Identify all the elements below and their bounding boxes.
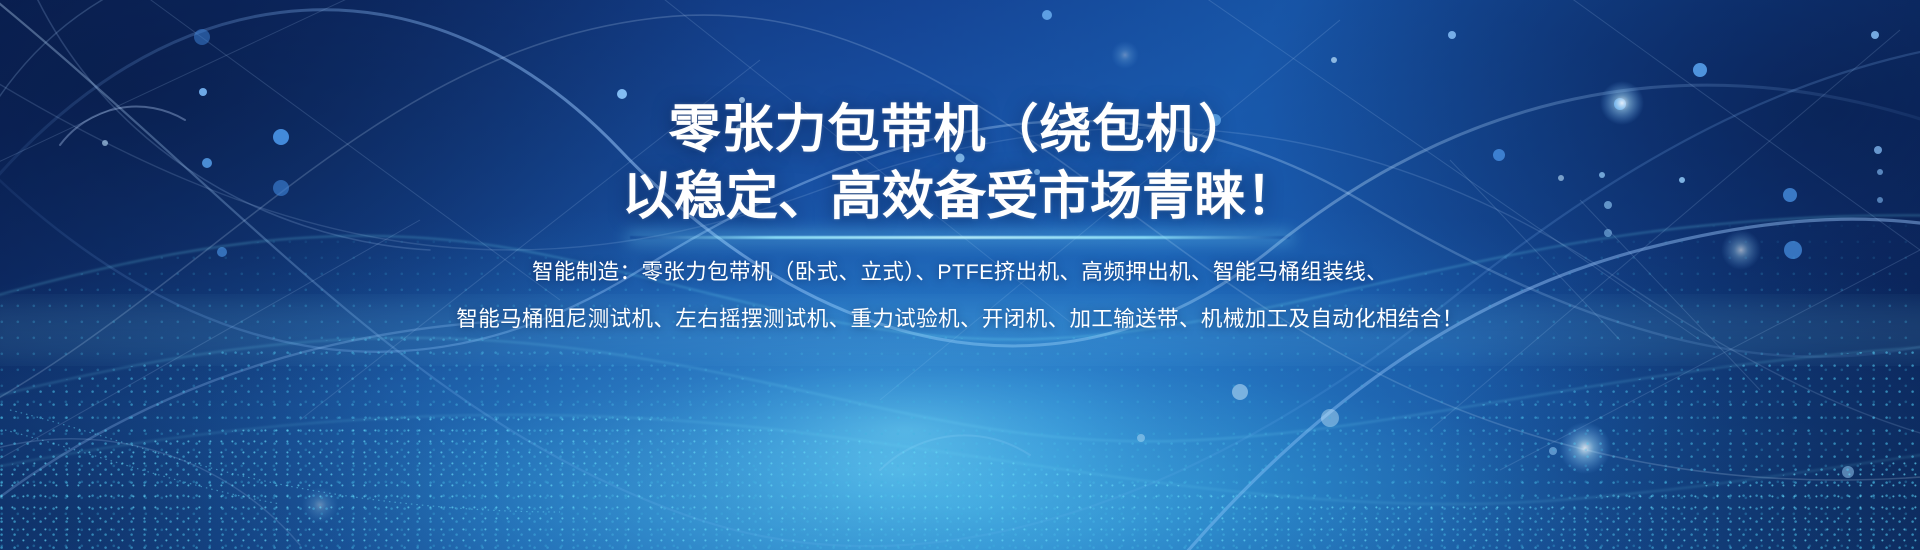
headline-glow-underline [630, 236, 1290, 239]
banner-headline-line1: 零张力包带机（绕包机） [668, 99, 1251, 162]
banner-headline-line2: 以稳定、高效备受市场青睐！ [622, 166, 1298, 229]
banner-subtitle-line1: 智能制造：零张力包带机（卧式、立式）、PTFE挤出机、高频押出机、智能马桶组装线… [532, 258, 1388, 287]
banner-subtitle-line2: 智能马桶阻尼测试机、左右摇摆测试机、重力试验机、开闭机、加工输送带、机械加工及自… [456, 305, 1463, 334]
hero-banner: 零张力包带机（绕包机） 以稳定、高效备受市场青睐！ 智能制造：零张力包带机（卧式… [0, 0, 1920, 550]
dot-mesh-near [0, 380, 1920, 550]
